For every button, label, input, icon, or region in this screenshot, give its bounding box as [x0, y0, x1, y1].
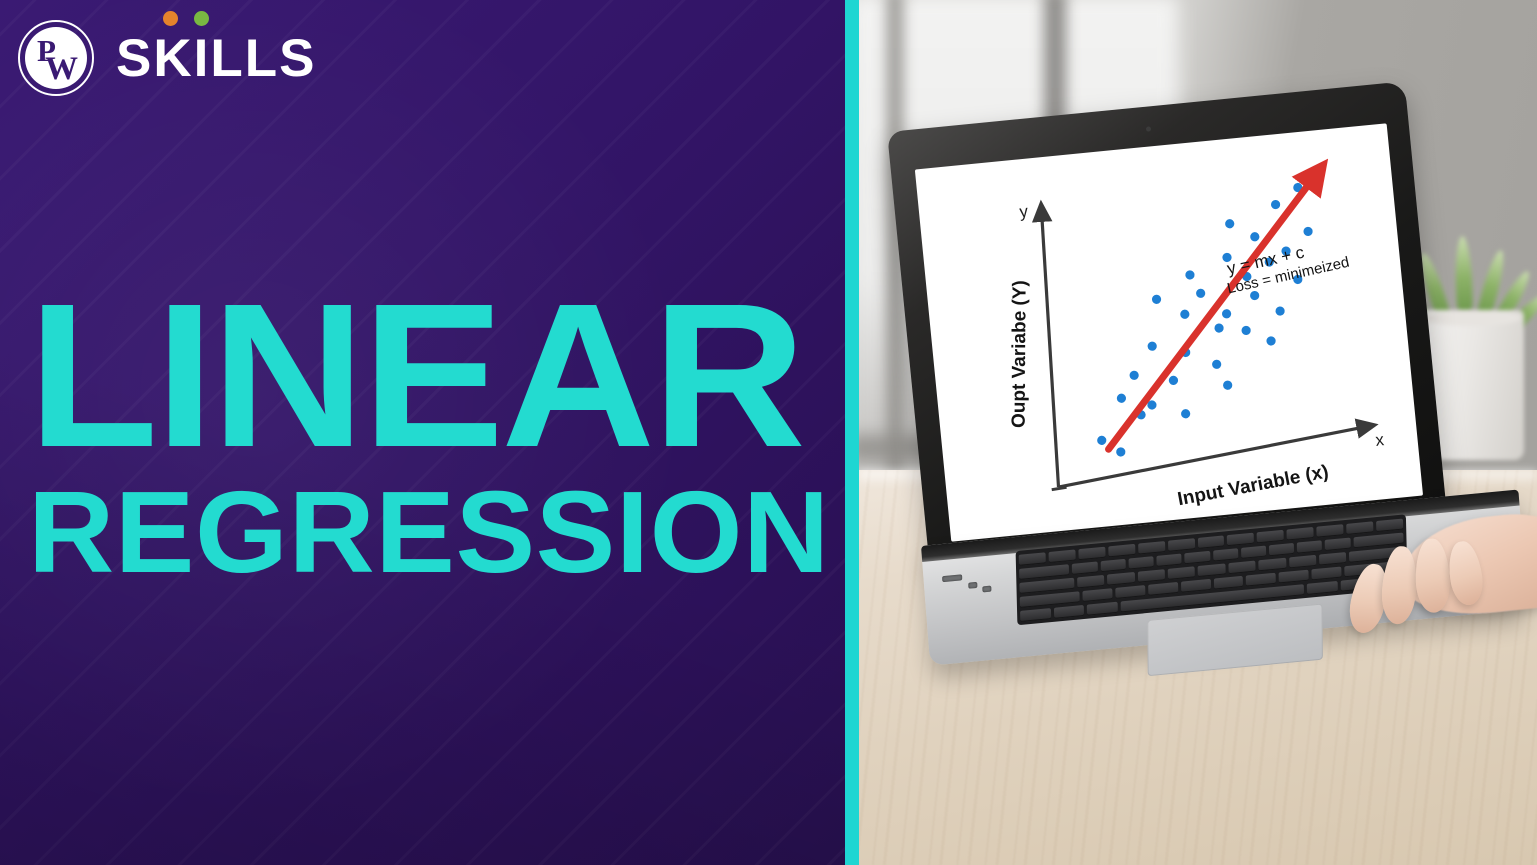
chart-point [1116, 393, 1126, 403]
key [1312, 567, 1342, 581]
key [1148, 582, 1178, 596]
key [1138, 541, 1165, 555]
y-axis-arrow-label: y [1019, 202, 1030, 222]
port-usb-c [968, 582, 977, 589]
y-axis-title: Oupt Variabe (Y) [1009, 280, 1031, 428]
key [1198, 563, 1226, 577]
chart-point [1152, 294, 1162, 304]
key [1257, 530, 1284, 544]
chart-point [1250, 232, 1260, 242]
orange-dot-icon [163, 11, 178, 26]
key [1181, 579, 1211, 593]
page-title: LINEAR REGRESSION [28, 296, 818, 579]
title-line-primary: LINEAR [28, 296, 845, 456]
webcam-icon [1146, 126, 1151, 131]
key [1077, 575, 1105, 589]
chart-point [1266, 336, 1276, 346]
laptop-screen[interactable]: y x Oupt Variabe (Y) Input Variable (x) … [915, 123, 1423, 541]
key [1246, 573, 1276, 587]
key [1213, 548, 1238, 561]
chart-point [1181, 409, 1191, 419]
key [1115, 585, 1145, 599]
pw-skills-logo[interactable]: P W SKILLS [18, 22, 316, 94]
key [1020, 608, 1051, 622]
teal-divider-bar [845, 0, 859, 865]
key [1072, 561, 1097, 574]
x-axis-title: Input Variable (x) [1176, 461, 1330, 510]
key [1108, 544, 1135, 558]
chart-point [1214, 323, 1224, 333]
key [1082, 588, 1112, 602]
key [1213, 576, 1243, 590]
port-vent [942, 574, 962, 582]
chart-point [1222, 309, 1232, 319]
key [1307, 581, 1338, 595]
key [1156, 554, 1181, 567]
poster-canvas: P W SKILLS LINEAR REGRESSION [0, 0, 1537, 865]
key [1376, 519, 1403, 533]
key [1128, 556, 1153, 569]
chart-svg: y x Oupt Variabe (Y) Input Variable (x) … [915, 123, 1423, 541]
key [1228, 561, 1256, 575]
key [1297, 540, 1322, 553]
chart-point [1180, 309, 1190, 319]
laptop-ports [942, 571, 996, 606]
key [1279, 570, 1309, 584]
scene-photo: y x Oupt Variabe (Y) Input Variable (x) … [859, 0, 1537, 865]
key [1258, 558, 1286, 572]
key [1227, 533, 1254, 547]
chart-point [1271, 200, 1281, 210]
hand-typing [1338, 524, 1537, 687]
key [1185, 551, 1210, 564]
key [1078, 547, 1105, 561]
chart-point [1129, 370, 1139, 380]
key [1168, 566, 1196, 580]
key [1317, 524, 1344, 538]
key [1346, 521, 1373, 535]
regression-line [1084, 177, 1339, 450]
chart-point [1147, 341, 1157, 351]
port-usb-c [982, 586, 991, 593]
key [1137, 569, 1165, 583]
title-line-secondary: REGRESSION [28, 486, 842, 579]
x-axis-arrow-label: x [1375, 430, 1386, 450]
green-dot-icon [194, 11, 209, 26]
chart-point [1275, 306, 1285, 316]
key [1019, 564, 1069, 580]
key [1107, 572, 1135, 586]
key [1287, 527, 1314, 541]
chart-point [1223, 380, 1233, 390]
chart-point [1116, 447, 1126, 457]
laptop: y x Oupt Variabe (Y) Input Variable (x) … [859, 0, 1537, 865]
chart-point [1241, 325, 1251, 335]
pw-monogram-icon: P W [18, 20, 94, 96]
key [1168, 538, 1195, 552]
key [1241, 546, 1266, 559]
chart-point [1185, 270, 1195, 280]
chart-point [1168, 375, 1178, 385]
key [1100, 559, 1125, 572]
chart-point [1196, 288, 1206, 298]
scatter-plot-chart: y x Oupt Variabe (Y) Input Variable (x) … [915, 123, 1423, 541]
left-brand-panel: P W SKILLS LINEAR REGRESSION [0, 0, 845, 865]
key [1197, 535, 1224, 549]
key [1087, 602, 1118, 616]
chart-point [1097, 435, 1107, 445]
logo-wordmark-text: SKILLS [116, 29, 316, 88]
chart-point [1225, 219, 1235, 229]
key [1289, 555, 1317, 569]
logo-letter-w: W [45, 53, 78, 86]
laptop-lid: y x Oupt Variabe (Y) Input Variable (x) … [887, 81, 1446, 560]
key [1054, 605, 1085, 619]
chart-point [1303, 226, 1313, 236]
key [1269, 543, 1294, 556]
key [1019, 552, 1046, 566]
key [1048, 549, 1075, 563]
logo-wordmark-group: SKILLS [116, 32, 316, 85]
laptop-trackpad[interactable] [1147, 603, 1323, 676]
chart-point [1212, 359, 1222, 369]
